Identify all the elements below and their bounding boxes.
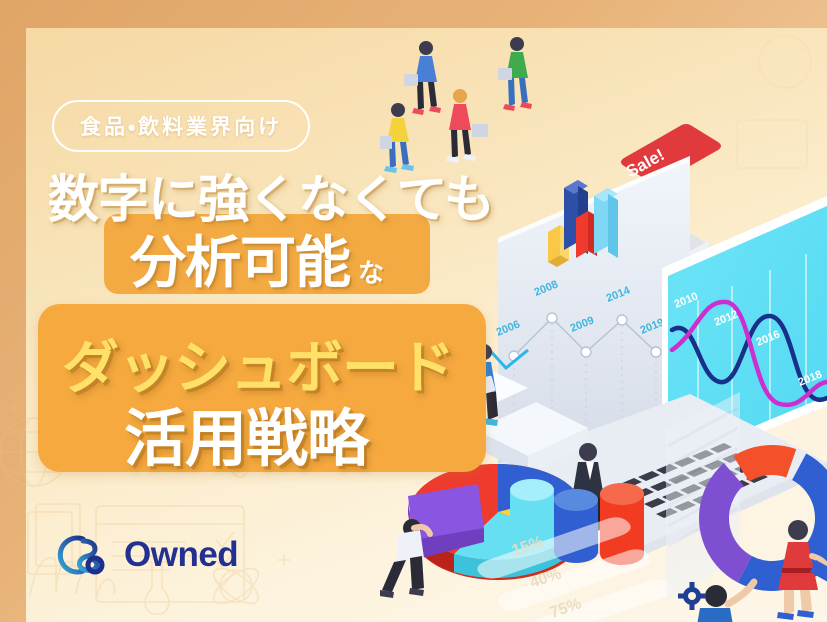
headline-emphasis: 分析可能 — [130, 218, 350, 299]
banner-root: Sale! — [0, 0, 827, 622]
brand-logo[interactable]: Owned — [50, 530, 238, 580]
owned-loop-mark-icon — [50, 530, 112, 580]
title-line-2: 活用戦略 — [124, 388, 368, 478]
industry-badge: 食品・飲料業界向け — [52, 100, 310, 152]
text-content-column: 食品・飲料業界向け 数字に強くなくても 分析可能 な ダッシュボード 活用戦略 — [0, 0, 500, 622]
headline-line-2: 分析可能 な — [130, 218, 384, 299]
headline-suffix: な — [358, 253, 384, 290]
brand-logo-text: Owned — [124, 535, 238, 575]
